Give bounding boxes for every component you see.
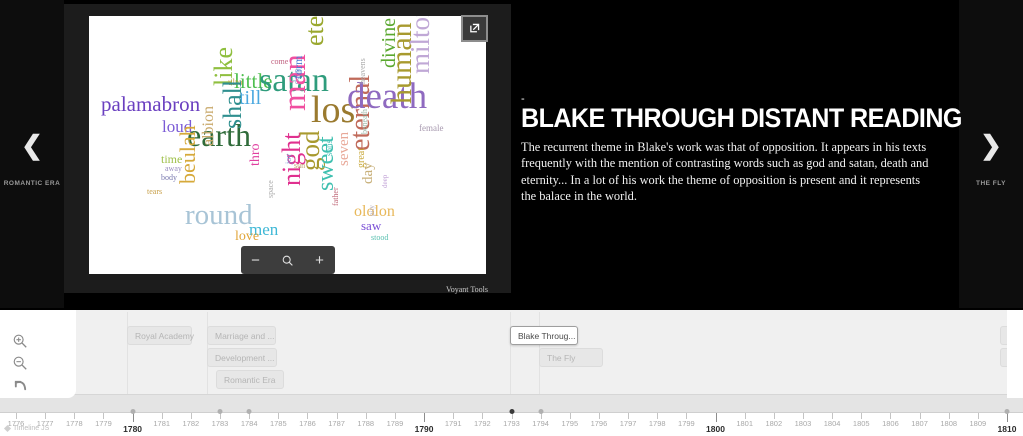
timeline-event-marker[interactable]	[1005, 409, 1010, 414]
timeline-card-label: Blake Throug...	[518, 331, 576, 341]
timeline-card[interactable]: Royal Academy	[127, 326, 192, 345]
axis-year-label: 1803	[795, 419, 812, 428]
axis-year-label: 1783	[212, 419, 229, 428]
media-credit: Voyant Tools	[446, 285, 488, 294]
axis-year-label: 1805	[853, 419, 870, 428]
word-cloud-term[interactable]: joy	[285, 154, 293, 164]
axis-year-label: 1810	[998, 424, 1017, 434]
word-cloud-image[interactable]: palamabronloudlikelittlecomeulrotillsata…	[89, 16, 486, 274]
word-cloud-term[interactable]: love	[235, 230, 259, 244]
axis-year-label: 1780	[123, 424, 142, 434]
timeline-card-label: Marriage and ...	[215, 331, 275, 341]
word-cloud-term[interactable]: deep	[382, 175, 389, 188]
axis-year-label: 1787	[328, 419, 345, 428]
word-cloud-term[interactable]: round	[185, 201, 253, 230]
timeline-card[interactable]: Development ...	[207, 348, 277, 367]
axis-year-label: 1806	[882, 419, 899, 428]
timeline-presentation: ❮ ROMANTIC ERA ❯ THE FLY palamabronloudl…	[0, 0, 1023, 436]
word-cloud-term[interactable]: female	[419, 124, 443, 133]
axis-year-label: 1808	[940, 419, 957, 428]
timeline-card[interactable]: Blake Throug...	[510, 326, 578, 345]
previous-slide-button[interactable]: ❮ ROMANTIC ERA	[0, 0, 64, 308]
chevron-left-icon: ❮	[21, 132, 43, 158]
timeline-navigation[interactable]: Royal AcademyMarriage and ...Development…	[0, 308, 1023, 436]
axis-year-label: 1792	[474, 419, 491, 428]
timeline-column-line	[510, 312, 511, 396]
timeline-card-label: Royal Academy	[135, 331, 194, 341]
axis-year-label: 1809	[970, 419, 987, 428]
word-cloud-term[interactable]: palamabron	[101, 94, 200, 115]
word-cloud-term[interactable]: thro	[249, 143, 263, 166]
word-cloud-term[interactable]: albion	[201, 106, 217, 146]
axis-year-label: 1782	[183, 419, 200, 428]
next-slide-label: THE FLY	[976, 180, 1006, 187]
timeline-event-marker[interactable]	[247, 409, 252, 414]
axis-year-label: 1779	[95, 419, 112, 428]
axis-year-label: 1801	[736, 419, 753, 428]
timeline-card[interactable]: Romantic Era	[216, 370, 284, 389]
zoom-in-icon[interactable]: +	[315, 253, 324, 268]
word-cloud-term[interactable]: space	[267, 180, 275, 198]
axis-year-label: 1793	[503, 419, 520, 428]
word-cloud-term[interactable]: shall	[220, 80, 246, 129]
zoom-out-icon[interactable]: −	[251, 253, 260, 268]
timeline-axis[interactable]: 1776177717781779178017811782178317841785…	[0, 413, 1023, 436]
zoom-out-icon[interactable]	[5, 352, 35, 374]
word-cloud-term[interactable]: eternity	[302, 16, 328, 46]
axis-year-label: 1807	[911, 419, 928, 428]
axis-year-label: 1790	[415, 424, 434, 434]
timeline-event-marker[interactable]	[509, 409, 514, 414]
timeline-card[interactable]: Marriage and ...	[207, 326, 276, 345]
word-cloud-term[interactable]: seven	[337, 132, 352, 166]
word-cloud-term[interactable]: stood	[371, 234, 388, 242]
word-cloud-term[interactable]: form	[292, 56, 304, 79]
axis-tick	[424, 413, 425, 422]
axis-year-label: 1804	[824, 419, 841, 428]
word-cloud-term[interactable]: sons	[325, 140, 334, 156]
undo-icon[interactable]	[5, 374, 35, 396]
axis-year-label: 1789	[387, 419, 404, 428]
word-cloud-term[interactable]: saw	[361, 219, 381, 232]
axis-year-label: 1788	[357, 419, 374, 428]
word-cloud-term[interactable]: sun	[294, 162, 305, 170]
axis-tick	[716, 413, 717, 422]
timeline-card-label: Development ...	[215, 353, 275, 363]
axis-year-label: 1785	[270, 419, 287, 428]
axis-year-label: 1795	[561, 419, 578, 428]
axis-year-label: 1778	[66, 419, 83, 428]
timeline-column-line	[127, 312, 128, 396]
axis-year-label: 1786	[299, 419, 316, 428]
slide-area: ❮ ROMANTIC ERA ❯ THE FLY palamabronloudl…	[0, 0, 1023, 308]
chevron-right-icon: ❯	[980, 132, 1002, 158]
axis-year-label: 1799	[678, 419, 695, 428]
word-cloud: palamabronloudlikelittlecomeulrotillsata…	[89, 16, 486, 274]
next-slide-button[interactable]: ❯ THE FLY	[959, 0, 1023, 308]
timeline-tools	[0, 310, 76, 398]
axis-year-label: 1794	[532, 419, 549, 428]
axis-tick	[133, 413, 134, 422]
axis-year-label: 1802	[765, 419, 782, 428]
slide-body: The recurrent theme in Blake's work was …	[521, 139, 935, 205]
axis-year-label: 1781	[153, 419, 170, 428]
timeline-credit: Timeline JS	[5, 425, 49, 432]
axis-tick	[1007, 413, 1008, 422]
slide-text: - BLAKE THROUGH DISTANT READING The recu…	[521, 95, 941, 205]
magnifier-icon[interactable]	[281, 254, 294, 267]
slide-title: BLAKE THROUGH DISTANT READING	[521, 105, 912, 132]
word-cloud-term[interactable]: pity	[369, 205, 376, 216]
timeline-marker-area: Royal AcademyMarriage and ...Development…	[0, 312, 1023, 396]
timeline-event-marker[interactable]	[538, 409, 543, 414]
zoom-in-icon[interactable]	[5, 330, 35, 352]
timeline-card-label: Romantic Era	[224, 375, 276, 385]
timeline-event-marker[interactable]	[130, 409, 135, 414]
axis-year-label: 1791	[445, 419, 462, 428]
word-cloud-term[interactable]: milton	[407, 16, 434, 74]
word-cloud-term[interactable]: father	[332, 187, 340, 206]
axis-year-label: 1798	[649, 419, 666, 428]
timeline-logo-icon	[4, 425, 11, 432]
word-cloud-term[interactable]: tears	[147, 188, 162, 196]
axis-year-label: 1784	[241, 419, 258, 428]
slide-media: palamabronloudlikelittlecomeulrotillsata…	[64, 4, 511, 293]
external-link-icon	[468, 22, 481, 35]
timeline-right-rail	[1007, 310, 1023, 398]
word-cloud-term[interactable]: day	[361, 162, 376, 184]
timeline-event-marker[interactable]	[218, 409, 223, 414]
timeline-card[interactable]: The Fly	[539, 348, 603, 367]
expand-media-button[interactable]	[461, 15, 488, 42]
previous-slide-label: ROMANTIC ERA	[4, 180, 61, 187]
timeline-card-label: The Fly	[547, 353, 575, 363]
media-zoom-controls: − +	[241, 246, 335, 274]
word-cloud-term[interactable]: beneath	[361, 109, 369, 134]
axis-year-label: 1796	[591, 419, 608, 428]
word-cloud-term[interactable]: beulah	[177, 125, 199, 184]
timeline-credit-label: Timeline JS	[13, 425, 49, 432]
axis-year-label: 1800	[706, 424, 725, 434]
word-cloud-term[interactable]: heavens	[359, 58, 367, 84]
axis-year-label: 1797	[620, 419, 637, 428]
